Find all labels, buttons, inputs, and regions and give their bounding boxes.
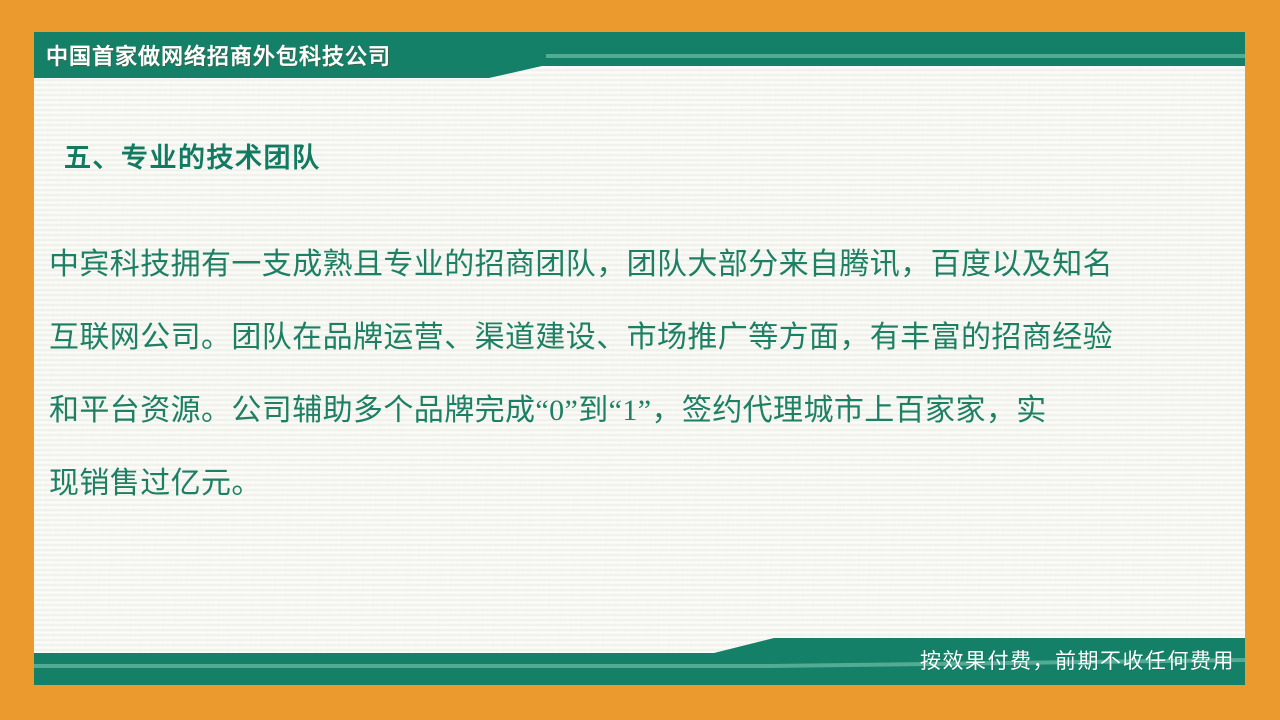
section-heading: 五、专业的技术团队 [64,136,321,175]
body-line: 互联网公司。团队在品牌运营、渠道建设、市场推广等方面，有丰富的招商经验 [49,301,1187,374]
slide: 中国首家做网络招商外包科技公司 五、专业的技术团队 中宾科技拥有一支成熟且专业的… [0,0,1280,720]
header-band-accentline [546,54,1245,58]
header-title: 中国首家做网络招商外包科技公司 [46,36,391,74]
body-line: 中宾科技拥有一支成熟且专业的招商团队，团队大部分来自腾讯，百度以及知名 [49,228,1187,301]
body-line: 和平台资源。公司辅助多个品牌完成“0”到“1”，签约代理城市上百家家，实 [49,374,1187,447]
body-paragraph: 中宾科技拥有一支成熟且专业的招商团队，团队大部分来自腾讯，百度以及知名 互联网公… [49,228,1187,520]
body-line: 现销售过亿元。 [49,447,1187,520]
footer-tagline: 按效果付费，前期不收任何费用 [920,645,1235,675]
